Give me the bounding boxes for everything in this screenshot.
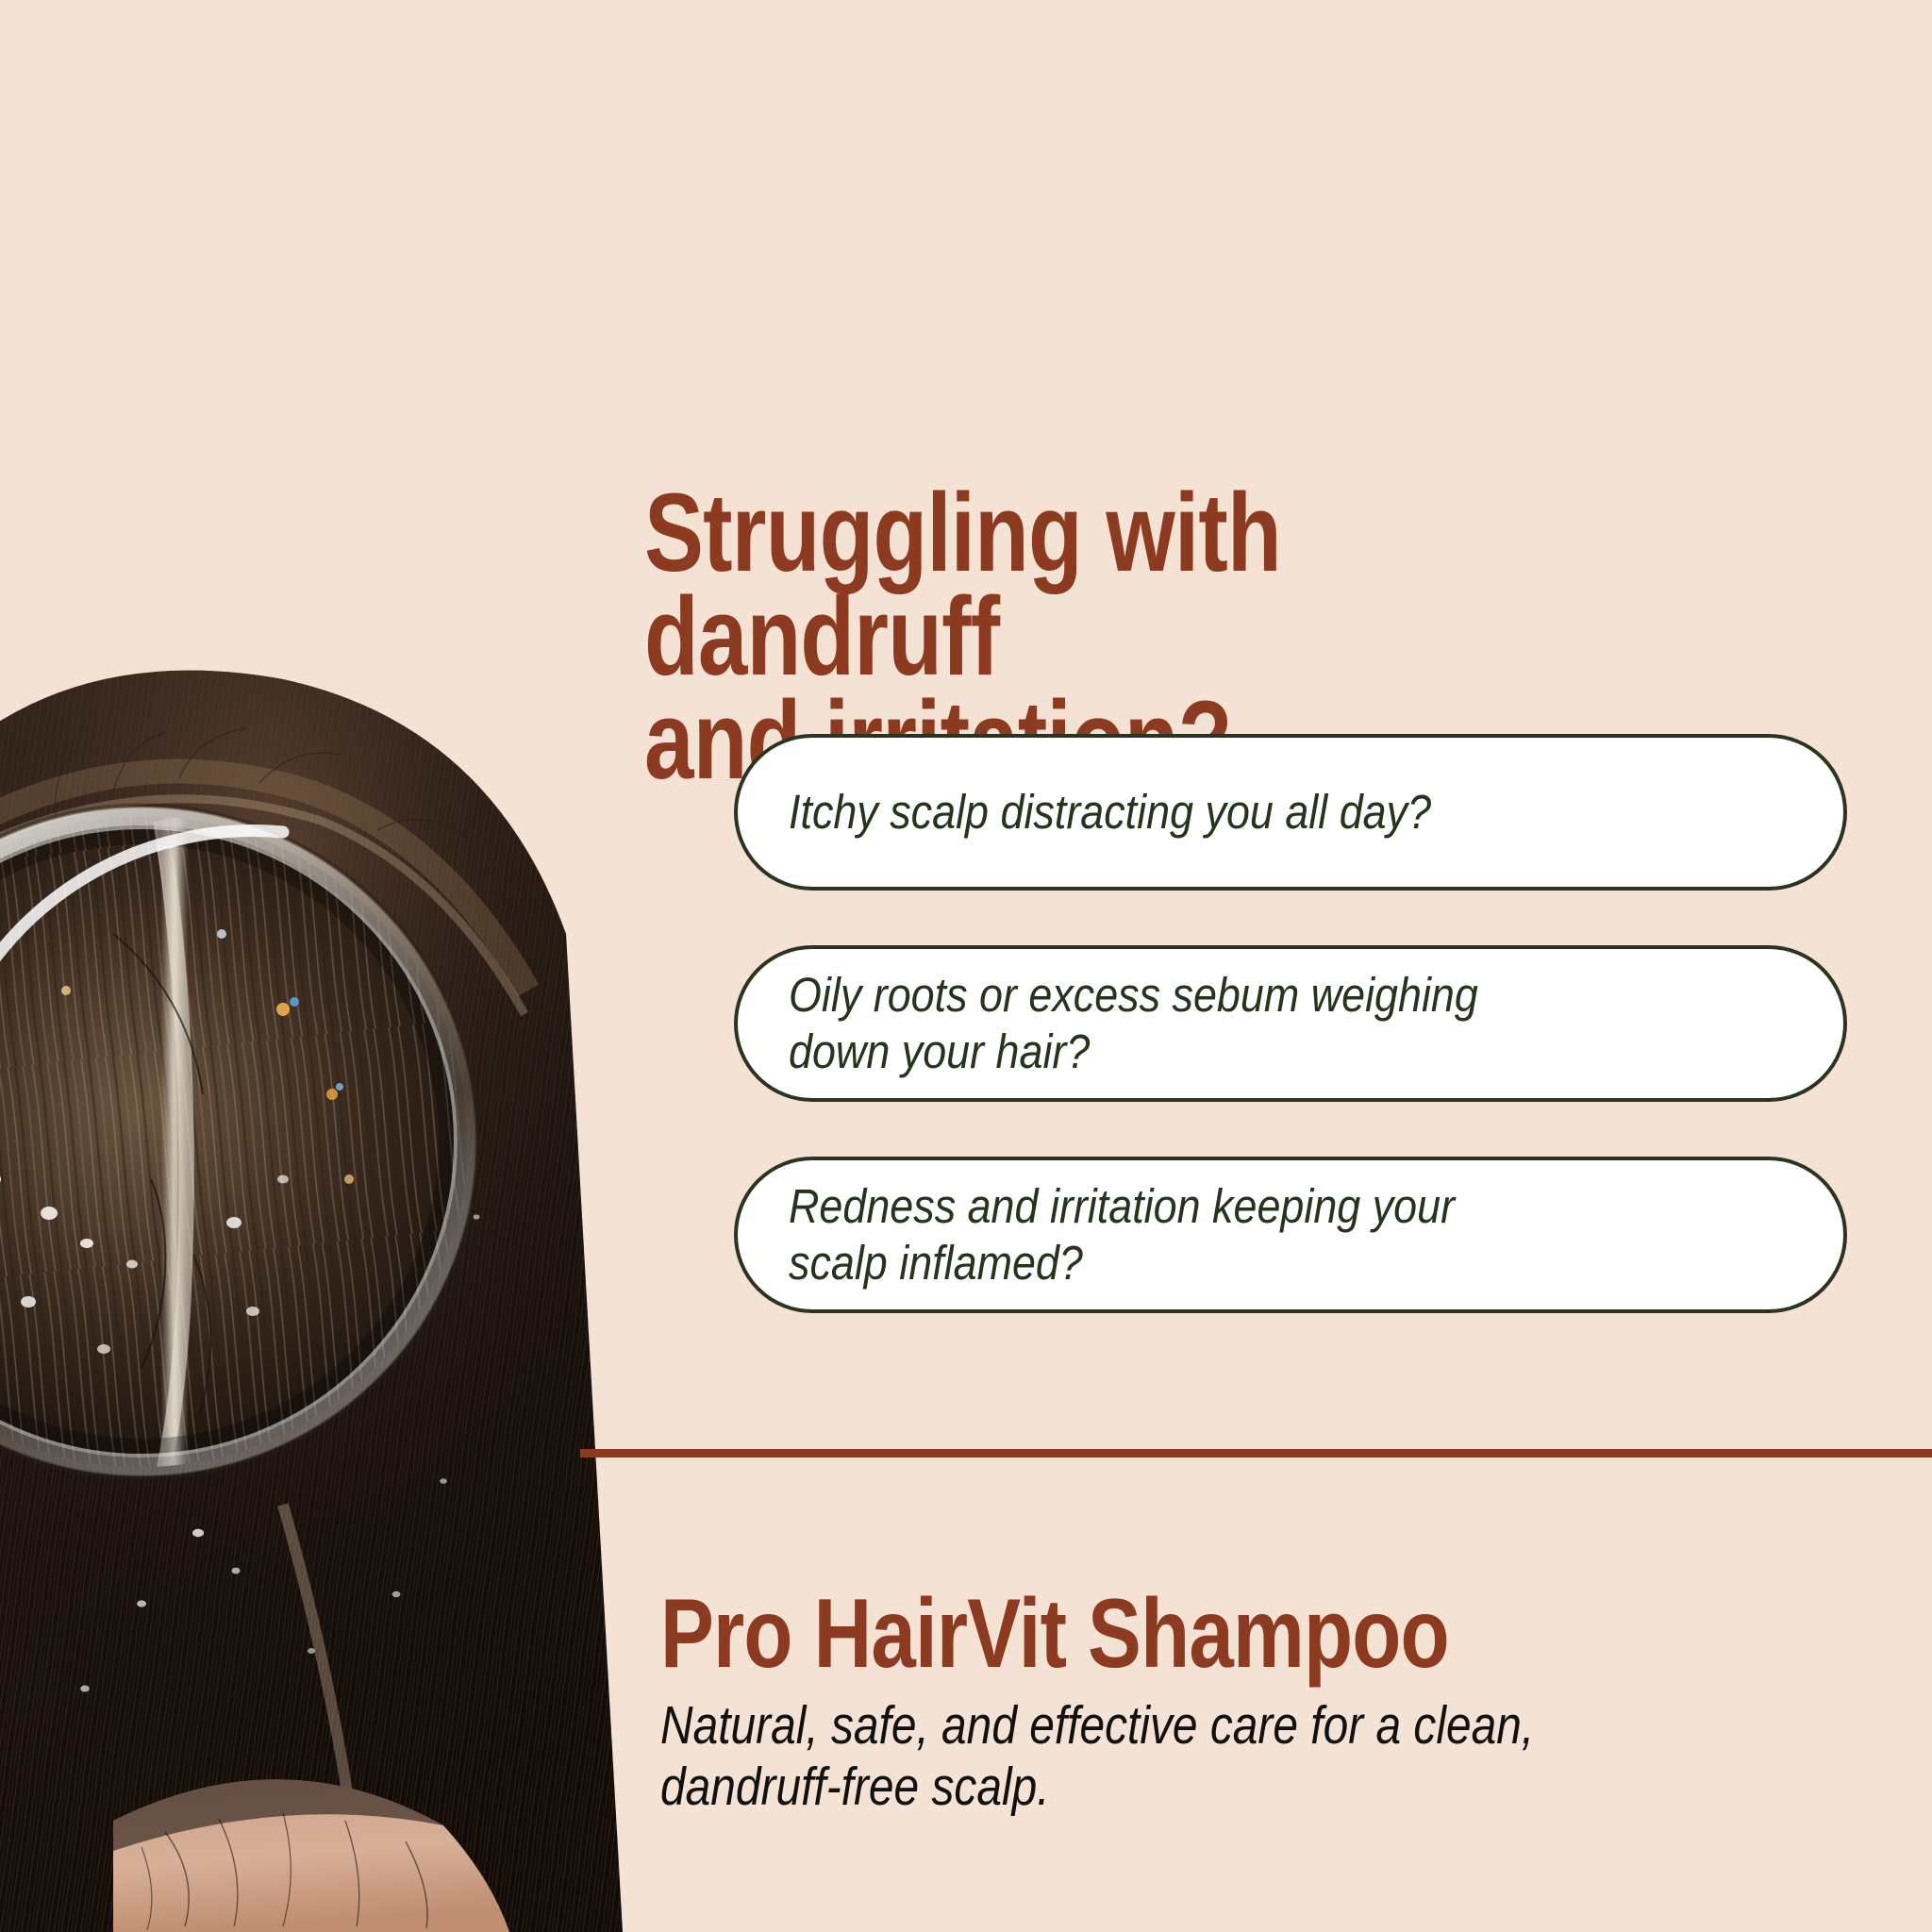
section-divider <box>580 1449 1932 1457</box>
product-name: Pro HairVit Shampoo <box>660 1585 1666 1683</box>
pain-point-list: Itchy scalp distracting you all day? Oil… <box>734 734 1847 1368</box>
scalp-photo <box>0 651 660 1932</box>
pain-point-item-1: Itchy scalp distracting you all day? <box>734 734 1847 891</box>
pain-point-text-3: Redness and irritation keeping your scal… <box>789 1178 1455 1291</box>
product-tagline: Natural, safe, and effective care for a … <box>660 1695 1651 1818</box>
pain-point-item-3: Redness and irritation keeping your scal… <box>734 1157 1847 1313</box>
scalp-photo-illustration <box>0 651 660 1932</box>
pain-point-text-2: Oily roots or excess sebum weighing down… <box>789 967 1478 1079</box>
pain-point-item-2: Oily roots or excess sebum weighing down… <box>734 945 1847 1102</box>
pain-point-text-1: Itchy scalp distracting you all day? <box>789 784 1431 841</box>
